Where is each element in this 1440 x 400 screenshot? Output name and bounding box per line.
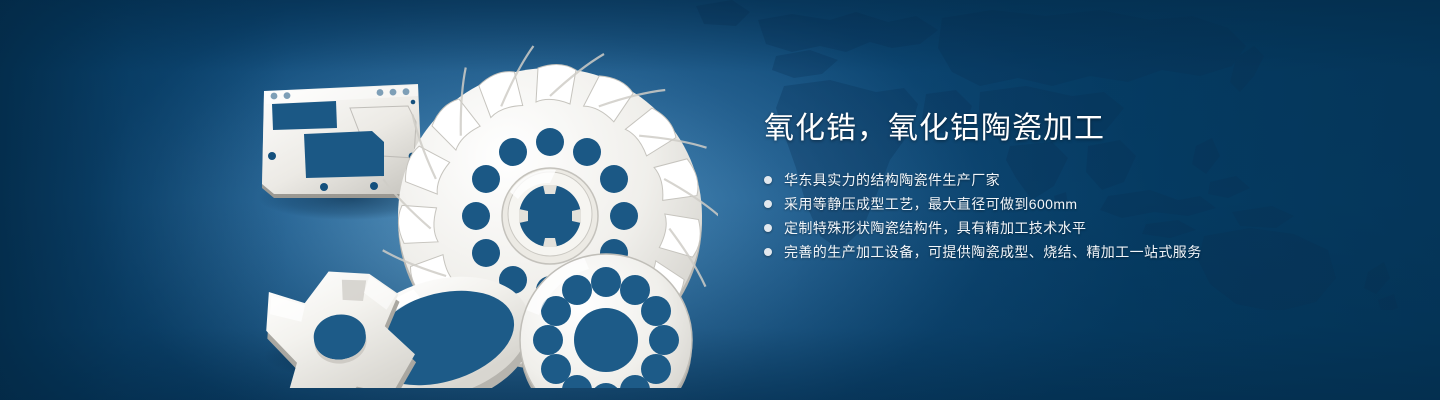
list-item-label: 定制特殊形状陶瓷结构件，具有精加工技术水平 (784, 217, 1086, 239)
bullet-dot-icon (764, 176, 772, 184)
list-item: 华东具实力的结构陶瓷件生产厂家 (764, 169, 1364, 191)
ceramic-products-image (232, 38, 718, 388)
bullet-dot-icon (764, 200, 772, 208)
banner-copy: 氧化锆，氧化铝陶瓷加工 华东具实力的结构陶瓷件生产厂家 采用等静压成型工艺，最大… (764, 112, 1364, 265)
list-item-label: 采用等静压成型工艺，最大直径可做到600mm (784, 193, 1077, 215)
bullet-dot-icon (764, 224, 772, 232)
bullet-dot-icon (764, 248, 772, 256)
list-item: 采用等静压成型工艺，最大直径可做到600mm (764, 193, 1364, 215)
feature-list: 华东具实力的结构陶瓷件生产厂家 采用等静压成型工艺，最大直径可做到600mm 定… (764, 169, 1364, 263)
list-item: 定制特殊形状陶瓷结构件，具有精加工技术水平 (764, 217, 1364, 239)
ceramic-base-plate-shape (262, 84, 422, 198)
list-item-label: 完善的生产加工设备，可提供陶瓷成型、烧结、精加工一站式服务 (784, 241, 1202, 263)
list-item-label: 华东具实力的结构陶瓷件生产厂家 (784, 169, 1000, 191)
hero-banner: 氧化锆，氧化铝陶瓷加工 华东具实力的结构陶瓷件生产厂家 采用等静压成型工艺，最大… (0, 0, 1440, 400)
page-title: 氧化锆，氧化铝陶瓷加工 (764, 112, 1364, 147)
list-item: 完善的生产加工设备，可提供陶瓷成型、烧结、精加工一站式服务 (764, 241, 1364, 263)
